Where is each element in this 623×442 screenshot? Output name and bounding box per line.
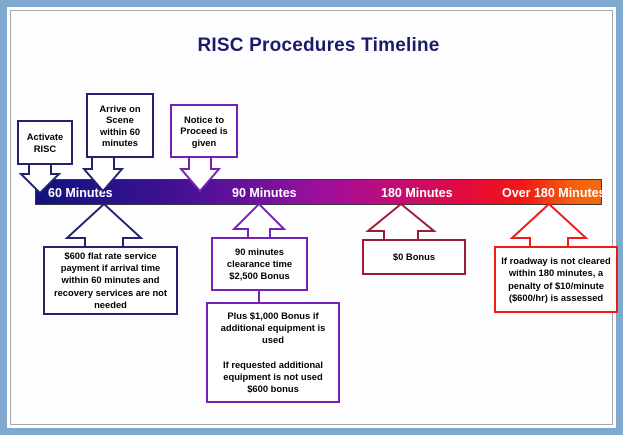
timeline-segment-90: 90 Minutes (232, 180, 297, 206)
diagram-canvas: RISC Procedures Timeline (7, 7, 623, 442)
timeline-segment-over180: Over 180 Minutes (502, 180, 606, 206)
callout-penalty: If roadway is not cleared within 180 min… (494, 246, 618, 313)
arrow-to-flat-rate (67, 204, 141, 248)
arrow-to-zero-bonus (368, 204, 434, 241)
callout-notice-to-proceed: Notice to Proceed is given (170, 104, 238, 158)
callout-flat-rate-payment: $600 flat rate service payment if arriva… (43, 246, 178, 315)
page-title: RISC Procedures Timeline (7, 35, 623, 57)
callout-activate-risc: Activate RISC (17, 120, 73, 165)
arrow-to-penalty (512, 204, 586, 248)
diagram-frame: RISC Procedures Timeline (0, 0, 623, 435)
timeline-segment-180: 180 Minutes (381, 180, 453, 206)
timeline-bar: 60 Minutes 90 Minutes 180 Minutes Over 1… (35, 179, 602, 205)
callout-zero-bonus: $0 Bonus (362, 239, 466, 275)
callout-equipment-bonus: Plus $1,000 Bonus if additional equipmen… (206, 302, 340, 403)
timeline-segment-60: 60 Minutes (48, 180, 113, 206)
callout-clearance-bonus: 90 minutes clearance time $2,500 Bonus (211, 237, 308, 291)
arrow-to-clearance (234, 204, 284, 239)
callout-arrive-on-scene: Arrive on Scene within 60 minutes (86, 93, 154, 158)
